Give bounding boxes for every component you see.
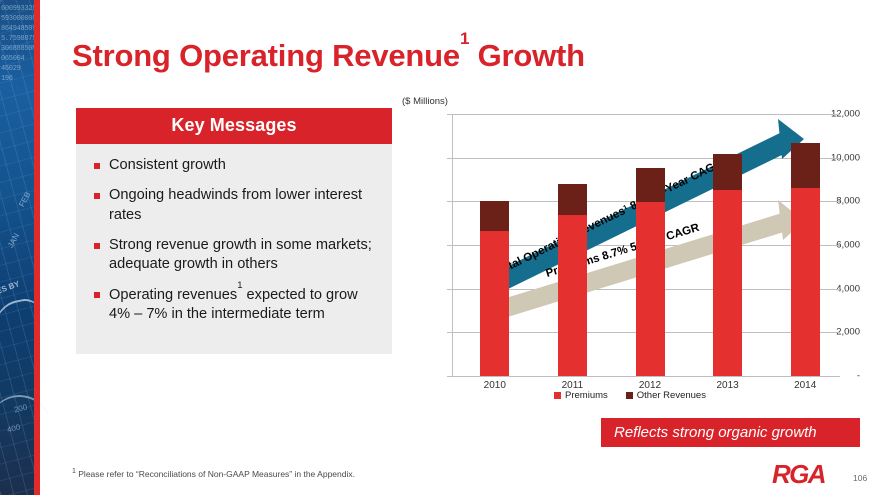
page-title-footnote-marker: 1 <box>460 29 469 48</box>
legend-item: Other Revenues <box>626 390 706 401</box>
y-axis-tick <box>447 158 452 159</box>
bar-segment-other-revenues <box>480 201 509 230</box>
page-title: Strong Operating Revenue1 Growth <box>72 38 585 74</box>
legend-label: Other Revenues <box>637 390 706 401</box>
legend-swatch <box>626 392 633 399</box>
bar-segment-other-revenues <box>636 168 665 202</box>
bullet-square-icon <box>94 163 100 169</box>
chart-legend: PremiumsOther Revenues <box>400 390 860 401</box>
bar-segment-other-revenues <box>791 143 820 188</box>
legend-label: Premiums <box>565 390 608 401</box>
page-number: 106 <box>853 473 867 483</box>
bullet-text: Operating revenues1 expected to grow 4% … <box>109 285 378 324</box>
bar-segment-premiums <box>713 190 742 376</box>
y-axis-tick <box>447 332 452 333</box>
bullet-square-icon <box>94 193 100 199</box>
list-item: Strong revenue growth in some markets; a… <box>90 236 378 275</box>
decorative-side-image: 6009933250593000000008649485095.75988759… <box>0 0 34 495</box>
legend-item: Premiums <box>554 390 608 401</box>
bullet-text-pre: Operating revenues <box>109 287 237 303</box>
bar-segment-premiums <box>791 188 820 376</box>
bullet-text: Ongoing headwinds from lower interest ra… <box>109 186 378 225</box>
key-messages-body: Consistent growth Ongoing headwinds from… <box>76 144 392 354</box>
bar-segment-premiums <box>558 215 587 376</box>
bar-segment-other-revenues <box>713 154 742 190</box>
red-accent-bar <box>34 0 40 495</box>
footnote-text: Please refer to “Reconciliations of Non-… <box>76 469 355 479</box>
y-axis-tick <box>447 114 452 115</box>
y-axis-tick <box>447 245 452 246</box>
bullet-text: Consistent growth <box>109 156 226 175</box>
revenue-chart: ($ Millions) -2,0004,0006,0008,00010,000… <box>400 96 860 406</box>
rga-logo: RGA <box>772 459 825 490</box>
chart-plot-area: Total Operating Revenues¹ 8.9% 5-Year CA… <box>452 114 840 376</box>
list-item: Consistent growth <box>90 156 378 175</box>
page-title-tail: Growth <box>469 38 585 73</box>
key-messages-header: Key Messages <box>76 108 392 144</box>
bullet-footnote-marker: 1 <box>237 280 242 291</box>
y-axis-tick <box>447 201 452 202</box>
bullet-square-icon <box>94 292 100 298</box>
key-messages-panel: Key Messages Consistent growth Ongoing h… <box>76 108 392 354</box>
bullet-text: Strong revenue growth in some markets; a… <box>109 236 378 275</box>
y-axis-tick <box>447 376 452 377</box>
page-title-main: Strong Operating Revenue <box>72 38 460 73</box>
axis-unit-label: ($ Millions) <box>402 96 448 107</box>
callout-banner: Reflects strong organic growth <box>601 418 860 447</box>
bar-segment-other-revenues <box>558 184 587 215</box>
footnote: 1 Please refer to “Reconciliations of No… <box>72 468 355 479</box>
list-item: Ongoing headwinds from lower interest ra… <box>90 186 378 225</box>
bullet-square-icon <box>94 243 100 249</box>
legend-swatch <box>554 392 561 399</box>
y-axis-tick <box>447 289 452 290</box>
bar-segment-premiums <box>636 202 665 376</box>
bar-segment-premiums <box>480 231 509 376</box>
gridline <box>452 376 840 377</box>
list-item: Operating revenues1 expected to grow 4% … <box>90 285 378 324</box>
